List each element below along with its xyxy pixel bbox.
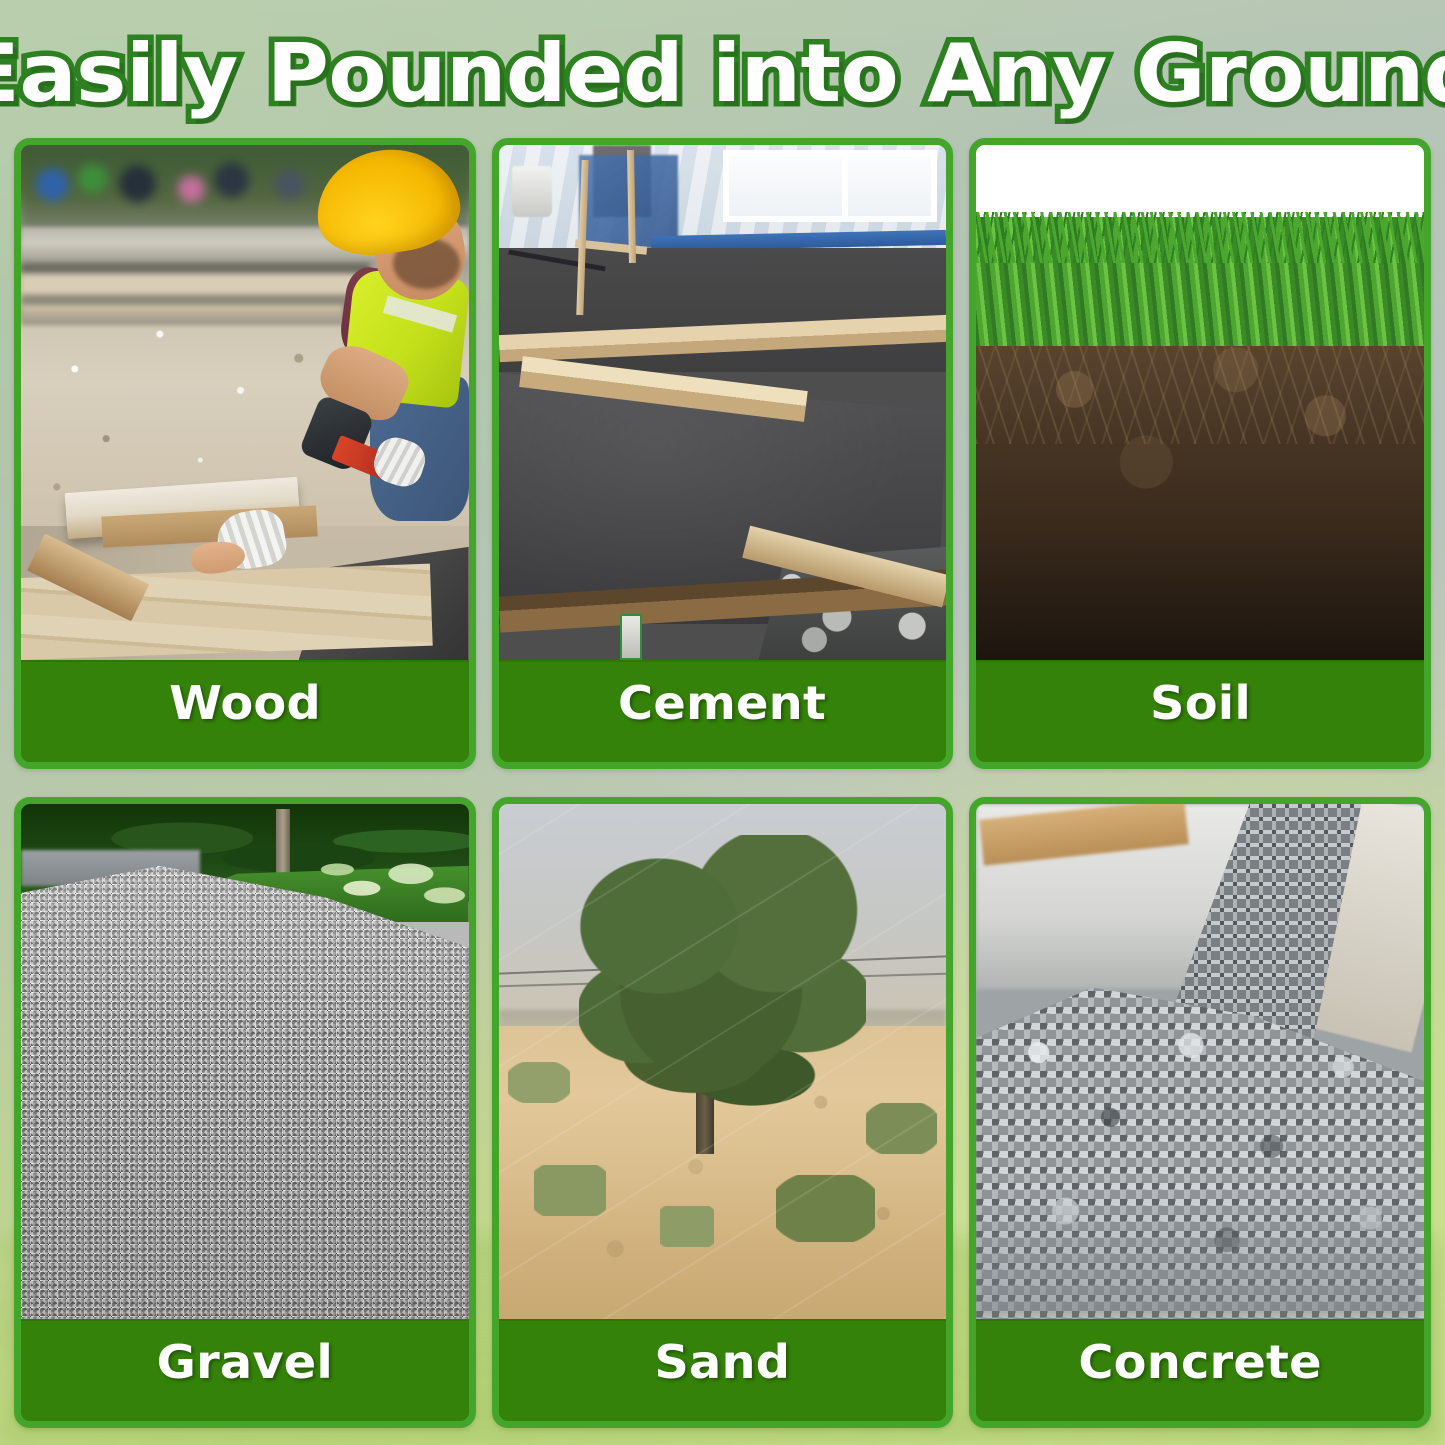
product-feature-poster: Easily Pounded into Any Ground [0,0,1445,1445]
photo-freshly-poured-cement-slab [499,145,947,662]
card-label-soil: Soil [1150,676,1251,730]
ground-types-grid: Wood [14,138,1431,1428]
page-title: Easily Pounded into Any Ground [0,26,1445,122]
card-cement[interactable]: Cement [492,138,954,769]
card-label-concrete: Concrete [1078,1335,1321,1389]
card-label-sand: Sand [655,1335,791,1389]
photo-grass-over-soil-cross-section [976,145,1424,662]
label-bar-sand: Sand [499,1321,947,1421]
card-label-wood: Wood [169,676,321,730]
label-bar-cement: Cement [499,662,947,762]
photo-gravel-driveway [21,804,469,1321]
label-bar-concrete: Concrete [976,1321,1424,1421]
card-label-cement: Cement [618,676,826,730]
photo-worker-drilling-into-wood-planks [21,145,469,662]
card-soil[interactable]: Soil [969,138,1431,769]
label-bar-soil: Soil [976,662,1424,762]
card-gravel[interactable]: Gravel [14,797,476,1428]
card-sand[interactable]: Sand [492,797,954,1428]
label-bar-wood: Wood [21,662,469,762]
photo-desert-tree-in-sand [499,804,947,1321]
headline-text: Easily Pounded into Any Ground [0,28,1445,120]
label-bar-gravel: Gravel [21,1321,469,1421]
photo-wet-concrete-pouring [976,804,1424,1321]
card-concrete[interactable]: Concrete [969,797,1431,1428]
card-label-gravel: Gravel [157,1335,333,1389]
card-wood[interactable]: Wood [14,138,476,769]
